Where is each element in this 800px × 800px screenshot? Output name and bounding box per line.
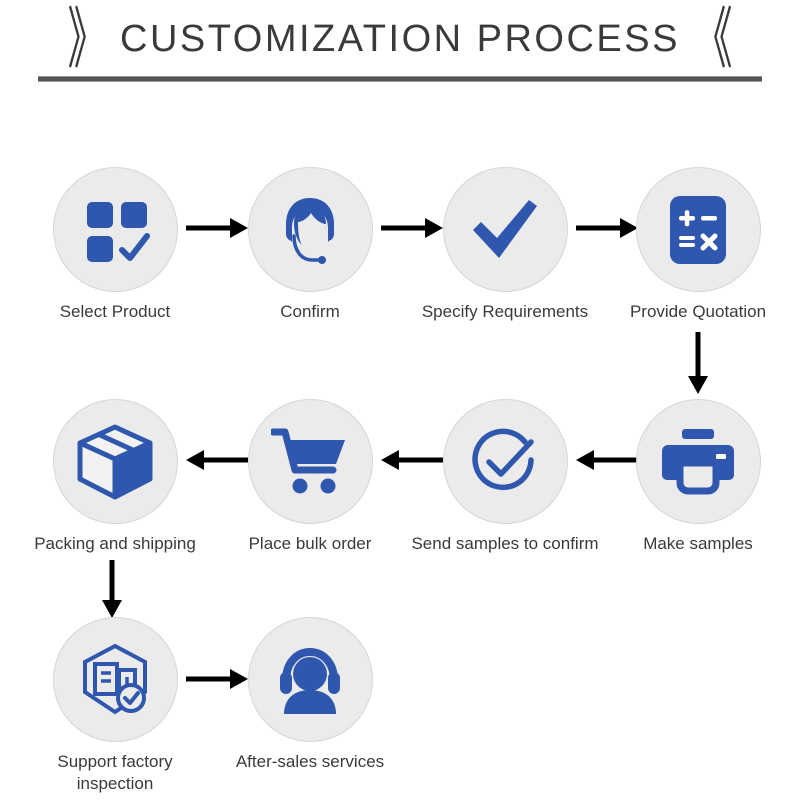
step-icon-circle (248, 399, 373, 524)
printer-icon (660, 427, 736, 497)
step-make-samples[interactable]: Make samples (603, 399, 793, 555)
calculator-icon (665, 192, 731, 268)
step-icon-circle (53, 167, 178, 292)
checkmark-icon (467, 192, 543, 268)
title-row: 》 CUSTOMIZATION PROCESS 《 (0, 8, 800, 70)
step-confirm[interactable]: Confirm (215, 167, 405, 323)
step-label: Send samples to confirm (410, 533, 600, 555)
title-divider (38, 76, 762, 82)
step-provide-quotation[interactable]: Provide Quotation (603, 167, 793, 323)
customization-process-infographic: 》 CUSTOMIZATION PROCESS 《 (0, 0, 800, 800)
step-label: Select Product (20, 301, 210, 323)
step-icon-circle (443, 399, 568, 524)
step-select-product[interactable]: Select Product (20, 167, 210, 323)
headset-agent-icon (272, 192, 348, 268)
step-icon-circle (636, 167, 761, 292)
page-title: CUSTOMIZATION PROCESS (120, 18, 680, 61)
step-label: Place bulk order (215, 533, 405, 555)
step-icon-circle (636, 399, 761, 524)
header: 》 CUSTOMIZATION PROCESS 《 (0, 0, 800, 90)
step-label: Make samples (603, 533, 793, 555)
step-label: Provide Quotation (603, 301, 793, 323)
arrow-provide-quotation-to-make-samples (684, 332, 712, 394)
step-icon-circle (53, 617, 178, 742)
step-label: After-sales services (215, 751, 405, 773)
step-after-sales-services[interactable]: After-sales services (215, 617, 405, 773)
step-label: Confirm (215, 301, 405, 323)
step-send-samples-to-confirm[interactable]: Send samples to confirm (410, 399, 600, 555)
check-circle-icon (467, 424, 543, 500)
right-chevron-icon: 《 (693, 6, 732, 73)
step-icon-circle (443, 167, 568, 292)
package-box-icon (76, 423, 154, 501)
step-icon-circle (248, 167, 373, 292)
step-label: Packing and shipping (20, 533, 210, 555)
step-icon-circle (248, 617, 373, 742)
step-label: Support factory inspection (20, 751, 210, 795)
step-label: Specify Requirements (410, 301, 600, 323)
step-icon-circle (53, 399, 178, 524)
shopping-cart-icon (271, 426, 349, 498)
step-packing-and-shipping[interactable]: Packing and shipping (20, 399, 210, 555)
grid-check-icon (79, 194, 151, 266)
step-support-factory-inspection[interactable]: Support factory inspection (20, 617, 210, 795)
factory-inspection-shield-icon (77, 642, 153, 718)
step-specify-requirements[interactable]: Specify Requirements (410, 167, 600, 323)
step-place-bulk-order[interactable]: Place bulk order (215, 399, 405, 555)
arrow-packing-to-support-factory-inspection (98, 560, 126, 618)
left-chevron-icon: 》 (67, 6, 106, 73)
customer-support-icon (272, 644, 348, 716)
